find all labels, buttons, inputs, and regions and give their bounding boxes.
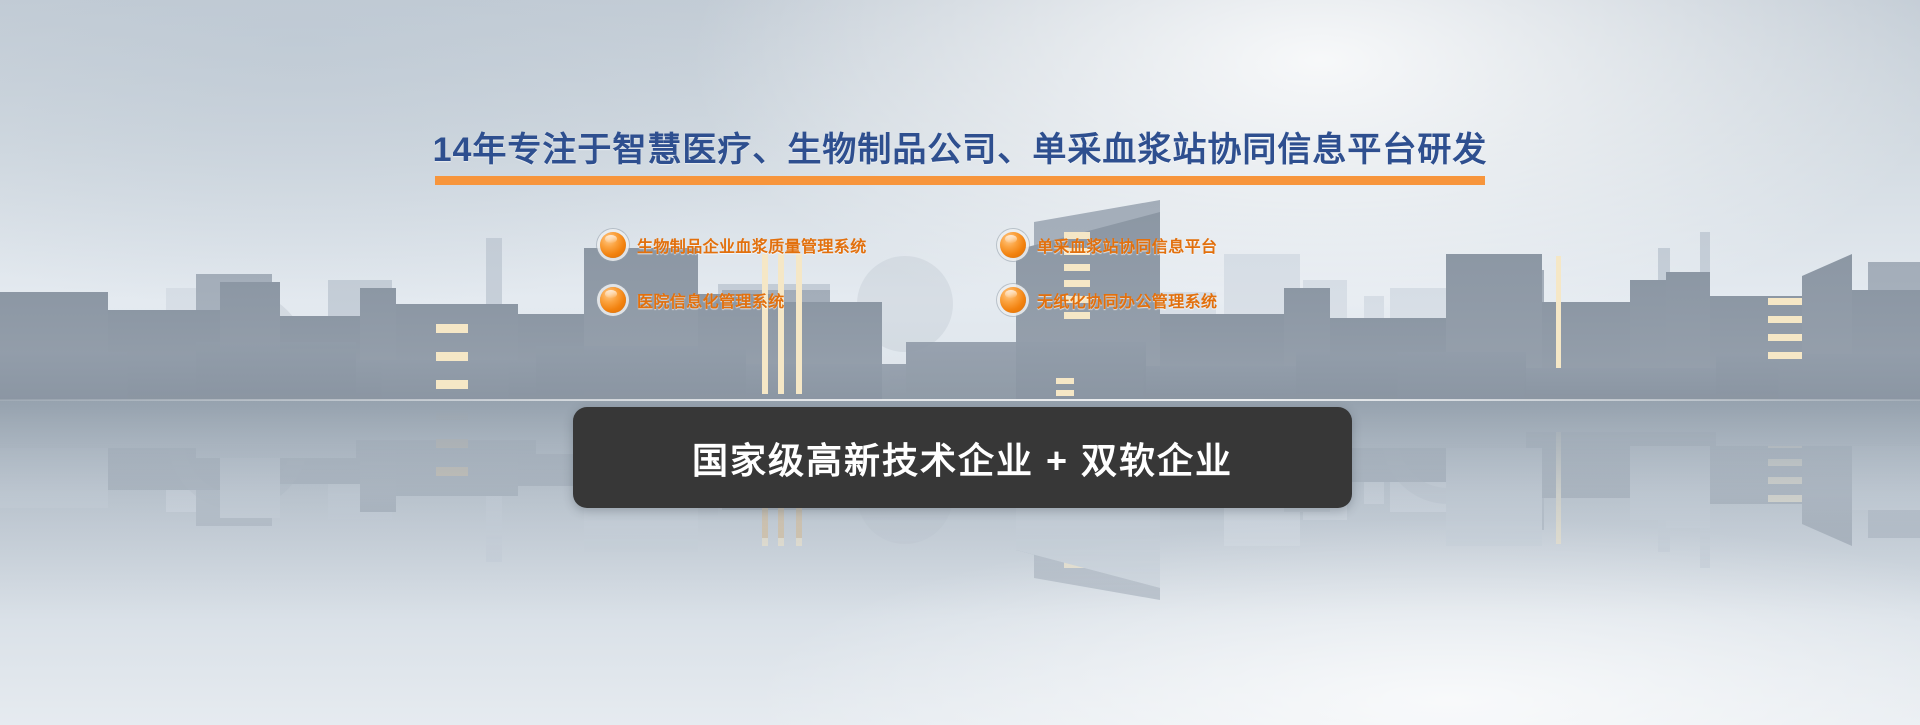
banner-content: 14年专注于智慧医疗、生物制品公司、单采血浆站协同信息平台研发 生物制品企业血浆…: [0, 0, 1920, 725]
feature-item-plasma-station[interactable]: 单采血浆站协同信息平台: [1000, 232, 1217, 258]
feature-label: 生物制品企业血浆质量管理系统: [637, 233, 867, 257]
orange-sphere-bullet-icon: [600, 232, 626, 258]
feature-row-1: 生物制品企业血浆质量管理系统 单采血浆站协同信息平台: [600, 232, 1300, 287]
orange-sphere-bullet-icon: [600, 287, 626, 313]
headline-underline-rule: [435, 176, 1485, 185]
feature-label: 单采血浆站协同信息平台: [1037, 233, 1217, 257]
feature-item-paperless-office[interactable]: 无纸化协同办公管理系统: [1000, 287, 1217, 313]
feature-item-plasma-quality[interactable]: 生物制品企业血浆质量管理系统: [600, 232, 867, 258]
feature-item-hospital-information[interactable]: 医院信息化管理系统: [600, 287, 785, 313]
hero-banner: 14年专注于智慧医疗、生物制品公司、单采血浆站协同信息平台研发 生物制品企业血浆…: [0, 0, 1920, 725]
feature-list: 生物制品企业血浆质量管理系统 单采血浆站协同信息平台 医院信息化管理系统 无纸化…: [600, 232, 1300, 342]
orange-sphere-bullet-icon: [1000, 287, 1026, 313]
feature-label: 医院信息化管理系统: [637, 288, 785, 312]
feature-label: 无纸化协同办公管理系统: [1037, 288, 1217, 312]
banner-headline: 14年专注于智慧医疗、生物制品公司、单采血浆站协同信息平台研发: [0, 122, 1920, 171]
certification-badge-text: 国家级高新技术企业 + 双软企业: [692, 432, 1233, 484]
feature-row-2: 医院信息化管理系统 无纸化协同办公管理系统: [600, 287, 1300, 342]
orange-sphere-bullet-icon: [1000, 232, 1026, 258]
certification-badge: 国家级高新技术企业 + 双软企业: [573, 407, 1352, 508]
